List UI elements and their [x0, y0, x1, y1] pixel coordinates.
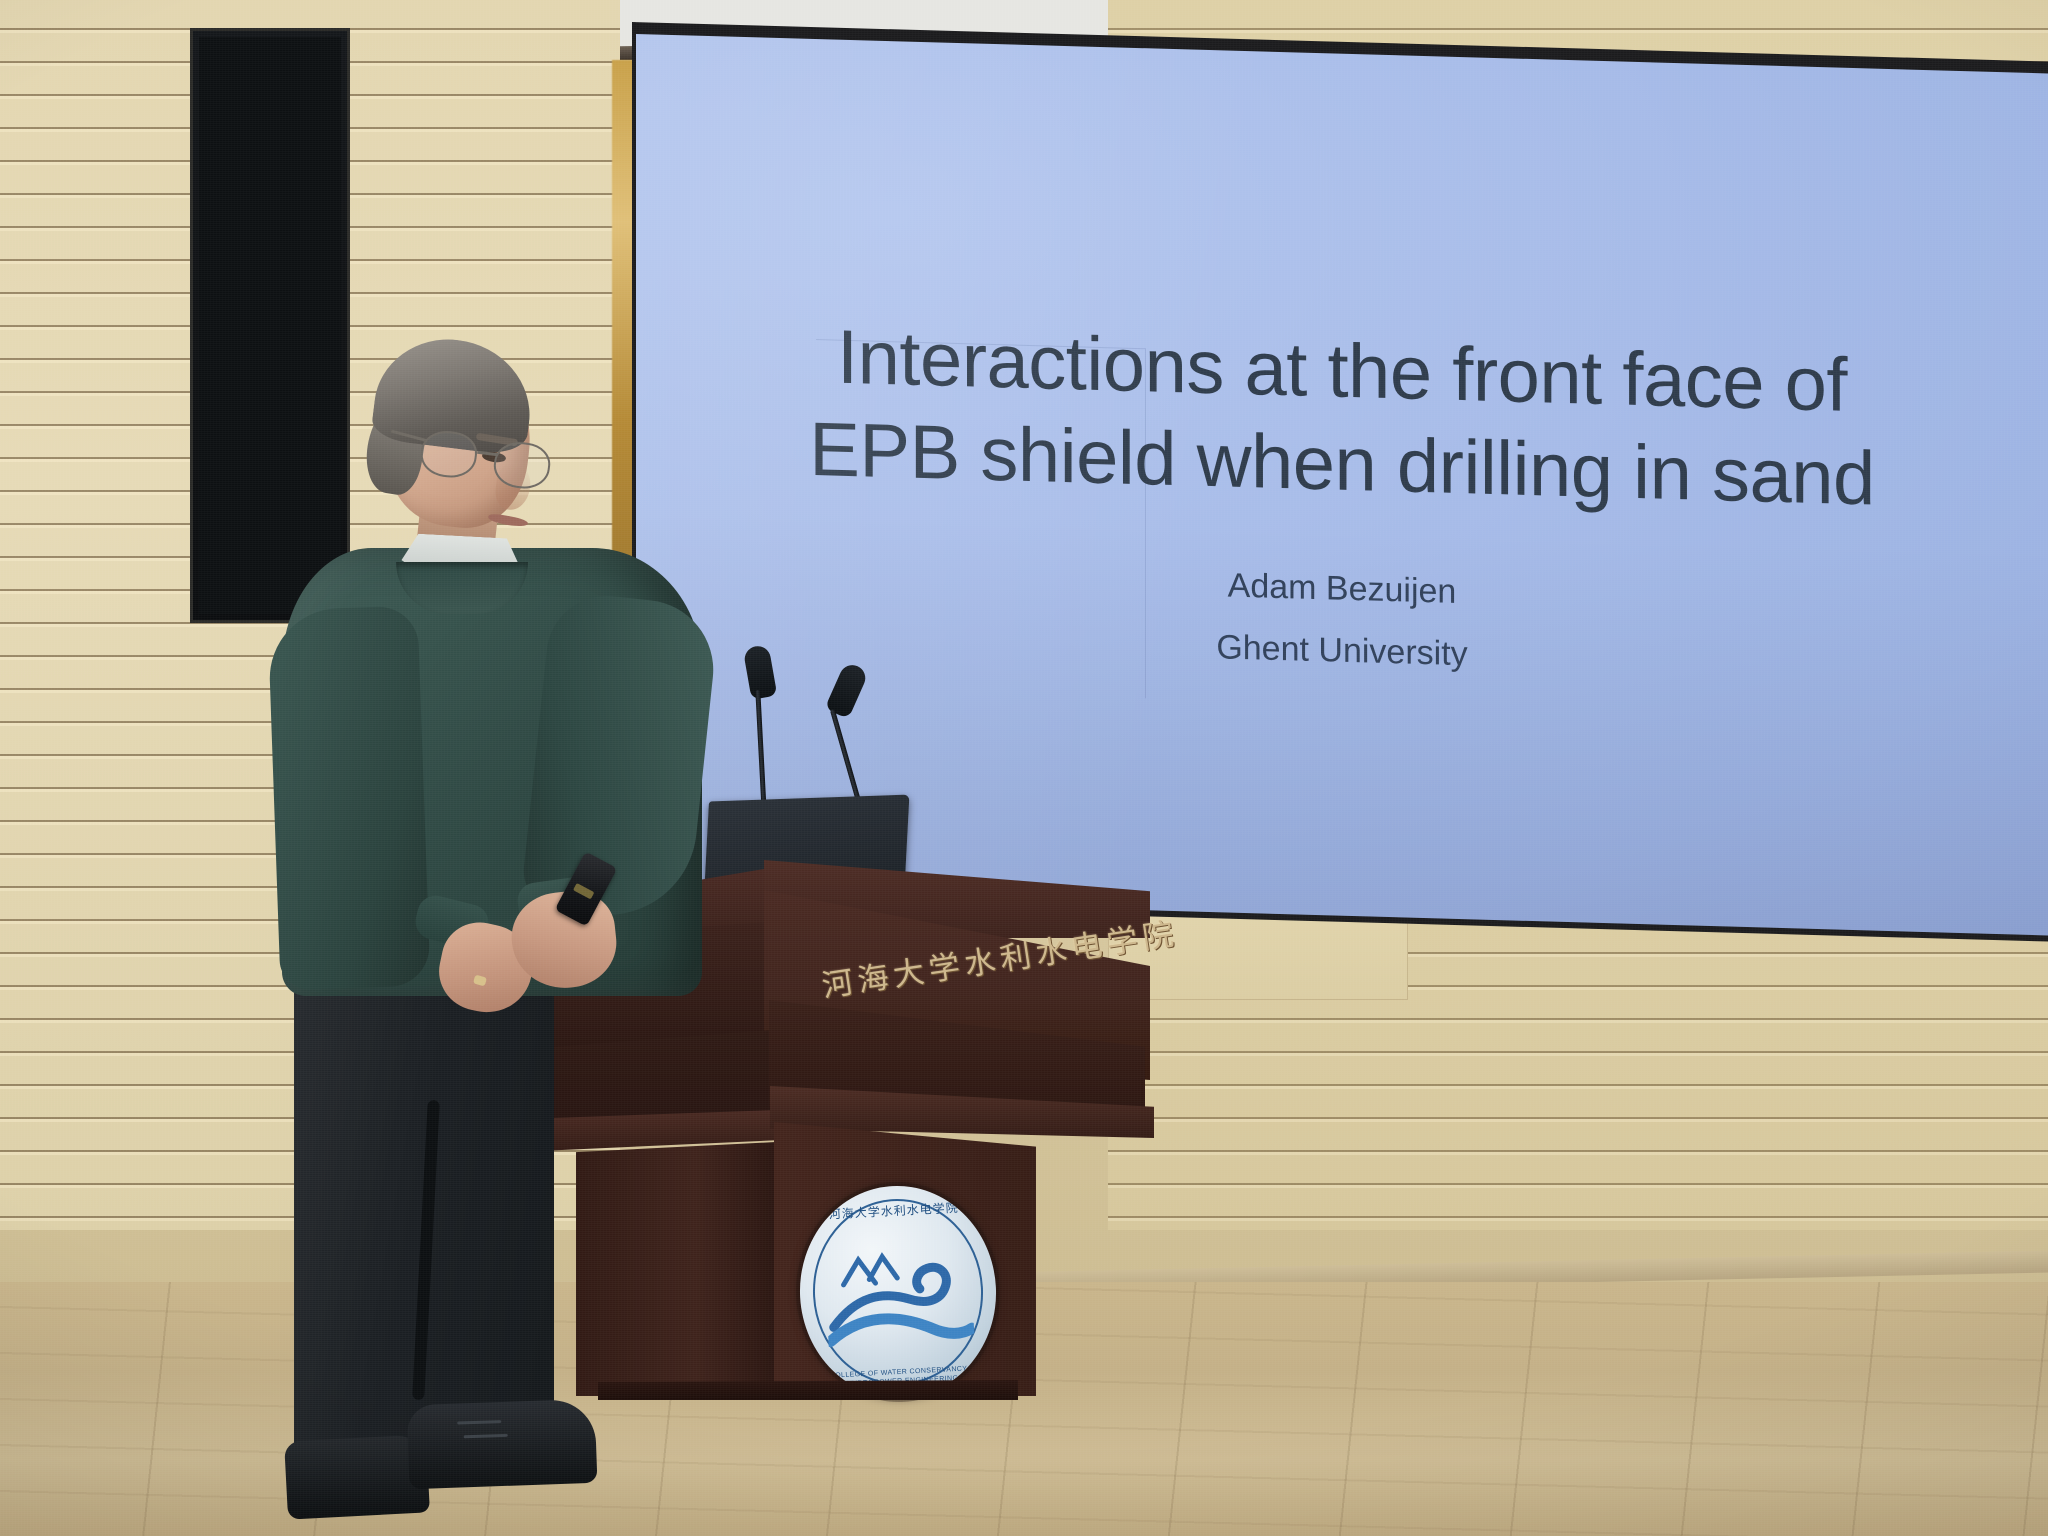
presentation-photo-scene: Interactions at the front face of EPB sh… — [0, 0, 2048, 1536]
clicker-button-icon — [573, 883, 594, 899]
shoe-lace — [457, 1420, 501, 1425]
slide-title: Interactions at the front face of EPB sh… — [636, 306, 2048, 531]
slide-author: Adam Bezuijen — [636, 550, 2048, 628]
glasses-lens-right — [491, 439, 552, 491]
glasses-lens-left — [418, 428, 479, 480]
presenter-shoe-right — [407, 1399, 598, 1490]
shoe-lace — [464, 1434, 508, 1439]
presenter — [300, 340, 720, 1536]
glasses-bridge — [477, 451, 497, 456]
presenter-arm-left — [267, 605, 430, 990]
emblem-wave-icon — [823, 1234, 975, 1359]
